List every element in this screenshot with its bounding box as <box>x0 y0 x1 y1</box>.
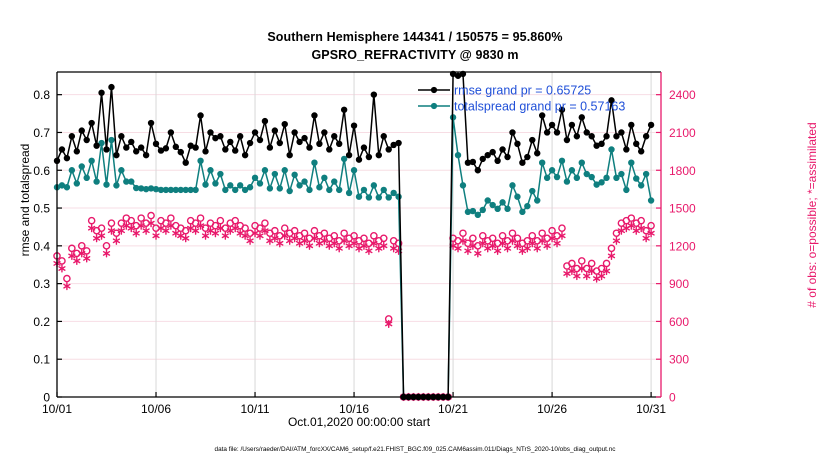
svg-text:0.6: 0.6 <box>33 164 50 178</box>
horizontal-gridlines <box>57 95 661 360</box>
axes-frame <box>57 72 661 397</box>
svg-text:600: 600 <box>669 315 689 329</box>
svg-text:0.2: 0.2 <box>33 315 50 329</box>
plot-area: 00.10.20.30.40.50.60.70.8030060090012001… <box>0 0 830 470</box>
svg-text:1500: 1500 <box>669 202 696 216</box>
svg-text:10/11: 10/11 <box>240 402 269 416</box>
svg-text:10/21: 10/21 <box>438 402 468 416</box>
svg-text:0.3: 0.3 <box>33 277 50 291</box>
svg-text:10/01: 10/01 <box>42 402 72 416</box>
svg-text:10/16: 10/16 <box>339 402 369 416</box>
x-axis-label: Oct.01,2020 00:00:00 start <box>57 415 661 429</box>
svg-text:2400: 2400 <box>669 88 696 102</box>
svg-text:0.4: 0.4 <box>33 239 50 253</box>
figure-canvas: Southern Hemisphere 144341 / 150575 = 95… <box>0 0 830 470</box>
svg-text:0.8: 0.8 <box>33 88 50 102</box>
chart-legend: rmse grand pr = 0.65725totalspread grand… <box>418 84 625 114</box>
svg-text:0.5: 0.5 <box>33 202 50 216</box>
y-axis-label-left: rmse and totalspread <box>18 70 32 330</box>
svg-text:0.7: 0.7 <box>33 126 50 140</box>
chart-title-line-1: Southern Hemisphere 144341 / 150575 = 95… <box>0 30 830 44</box>
svg-text:rmse grand pr = 0.65725: rmse grand pr = 0.65725 <box>454 84 591 98</box>
svg-text:1200: 1200 <box>669 239 696 253</box>
svg-text:1800: 1800 <box>669 164 696 178</box>
chart-title-line-2: GPSRO_REFRACTIVITY @ 9830 m <box>0 48 830 62</box>
svg-text:300: 300 <box>669 353 689 367</box>
svg-text:10/31: 10/31 <box>636 402 666 416</box>
svg-text:900: 900 <box>669 277 689 291</box>
svg-text:totalspread grand pr = 0.57163: totalspread grand pr = 0.57163 <box>454 100 625 114</box>
svg-text:2100: 2100 <box>669 126 696 140</box>
svg-text:0.1: 0.1 <box>33 353 50 367</box>
data-file-footer: data file: /Users/raeder/DAI/ATM_forcXX/… <box>0 446 830 453</box>
y-axis-label-right: # of obs: o=possible; *=assimilated <box>805 55 819 375</box>
axis-tick-labels: 00.10.20.30.40.50.60.70.8030060090012001… <box>33 88 696 416</box>
svg-text:10/26: 10/26 <box>537 402 567 416</box>
svg-text:0: 0 <box>669 391 676 405</box>
svg-text:10/06: 10/06 <box>141 402 171 416</box>
